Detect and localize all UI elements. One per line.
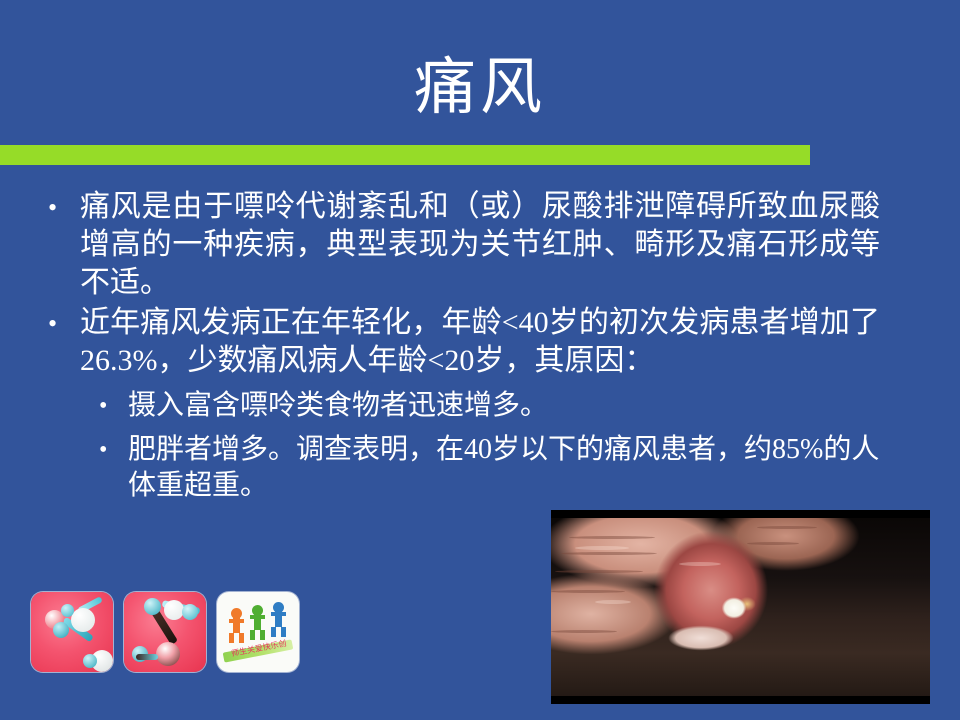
bullet-text: 肥胖者增多。调查表明，在40岁以下的痛风患者，约85%的人体重超重。 (128, 432, 880, 504)
clinical-photo (551, 510, 930, 704)
bullet-marker: • (99, 388, 107, 424)
bullet-marker: • (99, 432, 107, 468)
bullet-text: 痛风是由于嘌呤代谢紊乱和（或）尿酸排泄障碍所致血尿酸增高的一种疾病，典型表现为关… (80, 188, 880, 302)
bullet-item-1: • 痛风是由于嘌呤代谢紊乱和（或）尿酸排泄障碍所致血尿酸增高的一种疾病，典型表现… (0, 188, 880, 302)
bullet-marker: • (48, 189, 57, 227)
molecule-model-icon (31, 592, 113, 672)
logo-tile-molecule-2 (124, 592, 206, 672)
bullet-item-3: • 摄入富含嘌呤类食物者迅速增多。 (0, 388, 880, 424)
logo-row: 师生关爱快乐创 (31, 592, 311, 674)
page-title: 痛风 (0, 52, 960, 124)
bullet-item-4: • 肥胖者增多。调查表明，在40岁以下的痛风患者，约85%的人体重超重。 (0, 432, 880, 504)
bullet-item-2: • 近年痛风发病正在年轻化，年龄<40岁的初次发病患者增加了26.3%，少数痛风… (0, 304, 880, 380)
logo-tile-three-figures: 师生关爱快乐创 (217, 592, 299, 672)
accent-bar (0, 145, 810, 165)
logo-tile-molecule-1 (31, 592, 113, 672)
clinical-photo-finger-tophus-image (551, 518, 930, 696)
molecule-model-icon (124, 592, 206, 672)
body-text-block: • 痛风是由于嘌呤代谢紊乱和（或）尿酸排泄障碍所致血尿酸增高的一种疾病，典型表现… (0, 188, 880, 504)
bullet-marker: • (48, 305, 57, 343)
photo-bottom-band (551, 696, 930, 704)
bullet-text: 近年痛风发病正在年轻化，年龄<40岁的初次发病患者增加了26.3%，少数痛风病人… (80, 304, 880, 380)
slide-canvas: 痛风 • 痛风是由于嘌呤代谢紊乱和（或）尿酸排泄障碍所致血尿酸增高的一种疾病，典… (0, 0, 960, 720)
bullet-text: 摄入富含嘌呤类食物者迅速增多。 (128, 388, 880, 424)
